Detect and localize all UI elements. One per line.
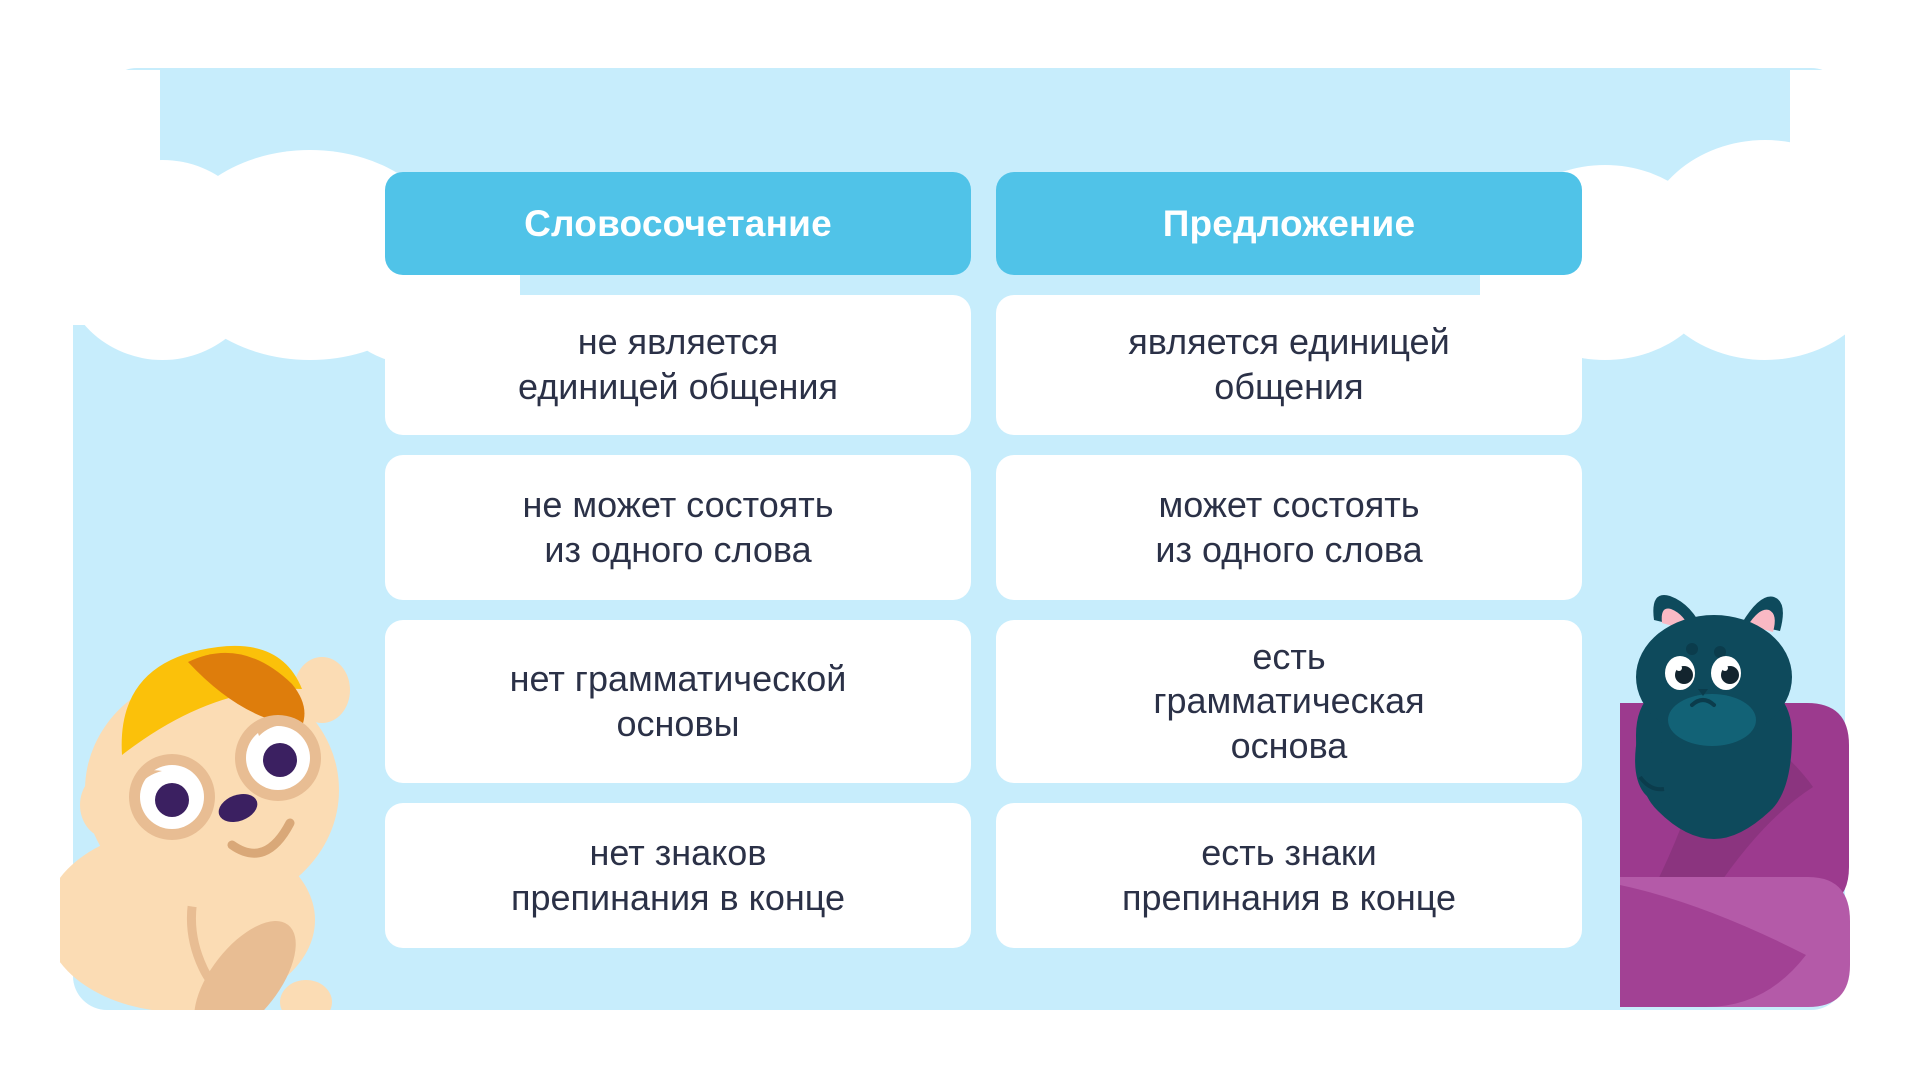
column-header-sentence[interactable]: Предложение [996,172,1582,275]
cat-right-eye [1711,656,1741,690]
top-white-margin [0,0,1920,68]
table-cell[interactable]: есть знаки препинания в конце [996,803,1582,948]
table-cell-text: не может состоять из одного слова [523,483,834,572]
cushion-bottom [1620,877,1850,1007]
table-cell[interactable]: не может состоять из одного слова [385,455,971,600]
table-cell[interactable]: является единицей общения [996,295,1582,435]
baby-left-eye [129,754,215,840]
table-cell-text: есть знаки препинания в конце [1122,831,1456,920]
table-cell-text: является единицей общения [1128,320,1449,409]
table-cell-text: есть грамматическая основа [1153,635,1424,769]
table-cell-text: нет знаков препинания в конце [511,831,845,920]
cat-left-eye [1665,656,1695,690]
baby-right-eye [235,715,321,801]
table-cell[interactable]: нет знаков препинания в конце [385,803,971,948]
table-cell[interactable]: есть грамматическая основа [996,620,1582,783]
baby-illustration [60,590,390,1010]
table-column-right: Предложение является единицей общения мо… [996,172,1582,948]
comparison-table: Словосочетание не является единицей обще… [385,172,1583,948]
table-cell-text: может состоять из одного слова [1155,483,1422,572]
table-cell[interactable]: не является единицей общения [385,295,971,435]
cat-illustration [1620,585,1920,1010]
table-column-left: Словосочетание не является единицей обще… [385,172,971,948]
bottom-white-margin [0,1010,1920,1080]
table-cell-text: нет грамматической основы [510,657,847,746]
table-cell[interactable]: может состоять из одного слова [996,455,1582,600]
column-header-label: Предложение [1163,203,1416,245]
slide-canvas: Словосочетание не является единицей обще… [0,0,1920,1080]
column-header-label: Словосочетание [524,203,832,245]
column-header-phrase[interactable]: Словосочетание [385,172,971,275]
table-cell[interactable]: нет грамматической основы [385,620,971,783]
table-cell-text: не является единицей общения [518,320,838,409]
